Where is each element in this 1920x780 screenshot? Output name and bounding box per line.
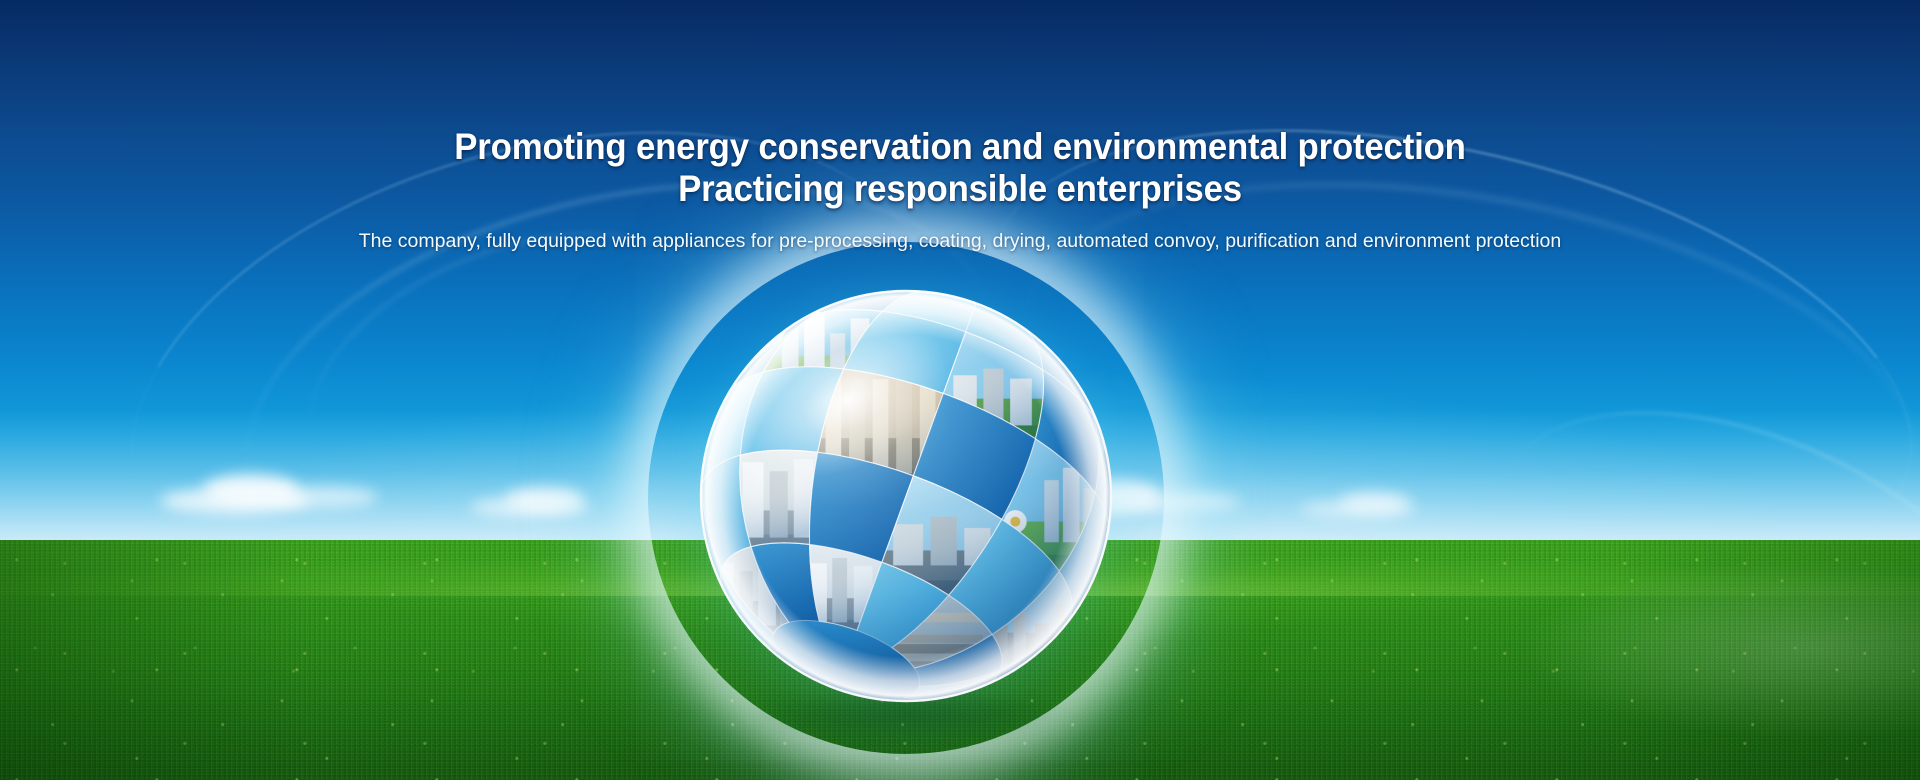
page-subtitle: The company, fully equipped with applian… xyxy=(0,228,1920,254)
globe-mosaic xyxy=(688,278,1124,714)
hero-banner: Promoting energy conservation and enviro… xyxy=(0,0,1920,780)
page-title: Promoting energy conservation and enviro… xyxy=(58,126,1863,210)
globe xyxy=(688,278,1124,714)
